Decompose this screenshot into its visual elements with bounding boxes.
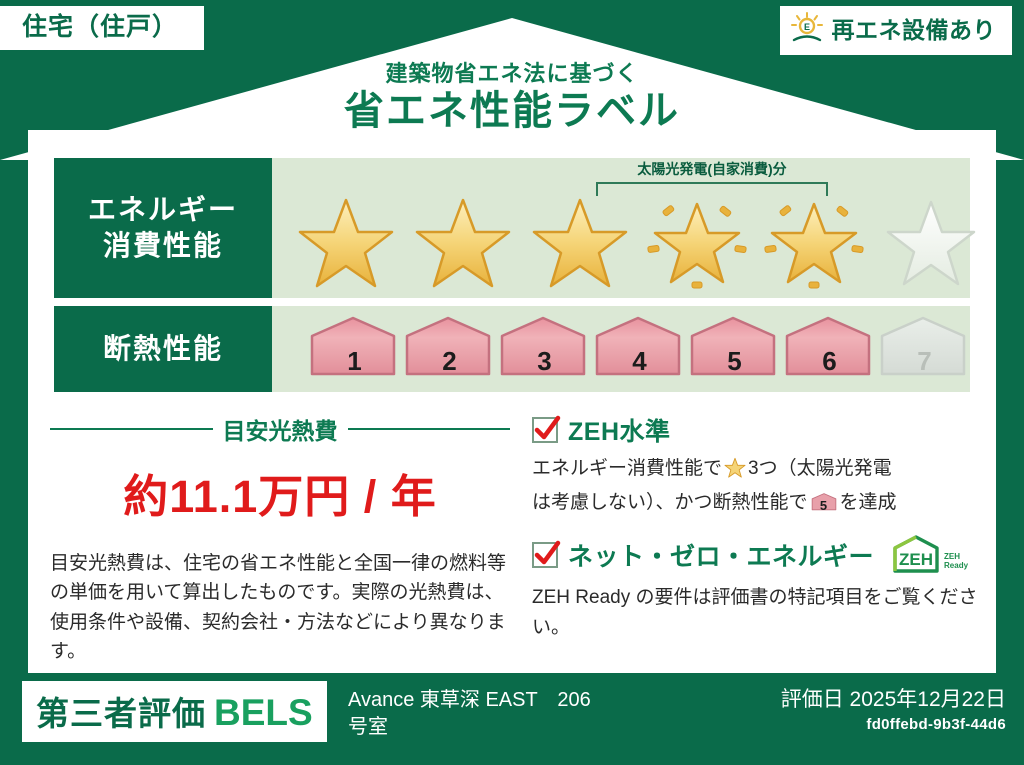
evaluation-id: fd0ffebd-9b3f-44d6 xyxy=(781,716,1006,733)
energy-stars-panel: 太陽光発電(自家消費)分 xyxy=(272,158,970,298)
energy-consumption-label: エネルギー 消費性能 xyxy=(54,158,272,298)
star-filled-solar-5 xyxy=(758,188,871,288)
insulation-grade-scale: 1 2 3 xyxy=(272,316,970,382)
zeh-netzero-header: ネット・ゼロ・エネルギー ZEH ZEH Ready xyxy=(532,533,982,577)
zeh-standard-title: ZEH水準 xyxy=(568,412,671,448)
property-name: Avance 東草深 EAST 206号室 xyxy=(348,687,598,741)
zeh-text-part2: は考慮しない）、かつ断熱性能で xyxy=(532,492,808,513)
zeh-text-part1: エネルギー消費性能で xyxy=(532,458,722,479)
utility-cost-value: 約11.1万円 / 年 xyxy=(50,460,510,525)
grade-number: 7 xyxy=(878,346,971,377)
grade-number: 2 xyxy=(403,346,496,377)
evaluation-info: 評価日 2025年12月22日 fd0ffebd-9b3f-44d6 xyxy=(781,687,1006,733)
grade-number: 3 xyxy=(498,346,591,377)
title-subtitle: 建築物省エネ法に基づく xyxy=(0,62,1024,86)
insulation-label: 断熱性能 xyxy=(54,306,272,392)
svg-text:E: E xyxy=(803,22,809,32)
insulation-row: 断熱性能 xyxy=(54,306,970,392)
zeh-standard-block: ZEH水準 エネルギー消費性能で 3つ（太陽光発電 は考慮しない）、かつ断熱性能… xyxy=(532,412,982,519)
label-details: 目安光熱費 約11.1万円 / 年 目安光熱費は、住宅の省エネ性能と全国一律の燃… xyxy=(28,400,996,673)
insulation-grade-2: 2 xyxy=(403,316,496,382)
star-empty-6 xyxy=(875,188,988,288)
zeh-logo-text: ZEH xyxy=(899,550,933,569)
utility-cost-title: 目安光熱費 xyxy=(223,412,338,446)
zeh-logo-sub2: Ready xyxy=(944,561,968,570)
star-filled-3 xyxy=(524,188,637,288)
energy-label-line2: 消費性能 xyxy=(103,228,223,264)
star-filled-2 xyxy=(407,188,520,288)
renewable-equipment-badge: E 再エネ設備あり xyxy=(780,6,1013,55)
zeh-netzero-title: ネット・ゼロ・エネルギー xyxy=(568,537,874,573)
renewable-badge-label: 再エネ設備あり xyxy=(832,19,997,42)
grade-number: 5 xyxy=(688,346,781,377)
utility-cost-heading: 目安光熱費 xyxy=(50,412,510,446)
zeh-text-stars: 3つ（太陽光発電 xyxy=(748,458,892,479)
zeh-section: ZEH水準 エネルギー消費性能で 3つ（太陽光発電 は考慮しない）、かつ断熱性能… xyxy=(528,400,996,673)
zeh-logo-sub1: ZEH xyxy=(944,552,960,561)
energy-performance-label: 住宅（住戸） E 再エネ設備あり 建築物省エネ法に基づく 省エネ性能ラベル xyxy=(0,0,1024,765)
energy-consumption-row: エネルギー 消費性能 太陽光発電(自家消費)分 xyxy=(54,158,970,298)
bels-logo: 第三者評価 BELS xyxy=(22,681,327,742)
zeh-standard-checkbox[interactable] xyxy=(532,417,558,443)
zeh-netzero-checkbox[interactable] xyxy=(532,542,558,568)
zeh-netzero-text: ZEH Ready の要件は評価書の特記項目をご覧ください。 xyxy=(532,583,982,644)
rating-rows: エネルギー 消費性能 太陽光発電(自家消費)分 xyxy=(54,158,970,392)
insulation-grades-panel: 1 2 3 xyxy=(272,306,970,392)
zeh-standard-text: エネルギー消費性能で 3つ（太陽光発電 は考慮しない）、かつ断熱性能で 5 を達… xyxy=(532,454,982,519)
energy-label-line1: エネルギー xyxy=(88,192,238,228)
utility-cost-note: 目安光熱費は、住宅の省エネ性能と全国一律の燃料等の単価を用いて算出したものです。… xyxy=(50,549,510,667)
star-filled-solar-4 xyxy=(641,188,754,288)
zeh-text-part3: を達成 xyxy=(840,492,897,513)
insulation-grade-3: 3 xyxy=(498,316,591,382)
solar-sun-icon: E xyxy=(790,12,824,49)
inline-house-number: 5 xyxy=(811,496,837,517)
label-title: 建築物省エネ法に基づく 省エネ性能ラベル xyxy=(0,62,1024,136)
title-main: 省エネ性能ラベル xyxy=(0,86,1024,136)
zeh-standard-header: ZEH水準 xyxy=(532,412,982,448)
insulation-grade-7: 7 xyxy=(878,316,971,382)
solar-bracket xyxy=(596,182,828,196)
label-footer: 第三者評価 BELS Avance 東草深 EAST 206号室 評価日 202… xyxy=(0,673,1024,765)
inline-star-icon xyxy=(724,457,746,488)
star-filled-1 xyxy=(290,188,403,288)
insulation-grade-1: 1 xyxy=(308,316,401,382)
insulation-grade-6: 6 xyxy=(783,316,876,382)
rule-right xyxy=(348,428,511,430)
label-card: エネルギー 消費性能 太陽光発電(自家消費)分 xyxy=(28,130,996,673)
insulation-grade-5: 5 xyxy=(688,316,781,382)
grade-number: 6 xyxy=(783,346,876,377)
insulation-grade-4: 4 xyxy=(593,316,686,382)
housing-type-tag: 住宅（住戸） xyxy=(0,6,204,50)
star-rating xyxy=(272,188,970,288)
bels-en-text: BELS xyxy=(214,692,313,734)
bels-jp-text: 第三者評価 xyxy=(36,687,206,735)
inline-house-grade-icon: 5 xyxy=(811,492,837,512)
zeh-netzero-block: ネット・ゼロ・エネルギー ZEH ZEH Ready xyxy=(532,533,982,644)
rule-left xyxy=(50,428,213,430)
grade-number: 1 xyxy=(308,346,401,377)
utility-cost-section: 目安光熱費 約11.1万円 / 年 目安光熱費は、住宅の省エネ性能と全国一律の燃… xyxy=(28,400,528,673)
evaluation-date: 評価日 2025年12月22日 xyxy=(781,687,1006,712)
grade-number: 4 xyxy=(593,346,686,377)
zeh-ready-logo: ZEH ZEH Ready xyxy=(890,533,968,577)
solar-annotation-text: 太陽光発電(自家消費)分 xyxy=(594,162,830,177)
